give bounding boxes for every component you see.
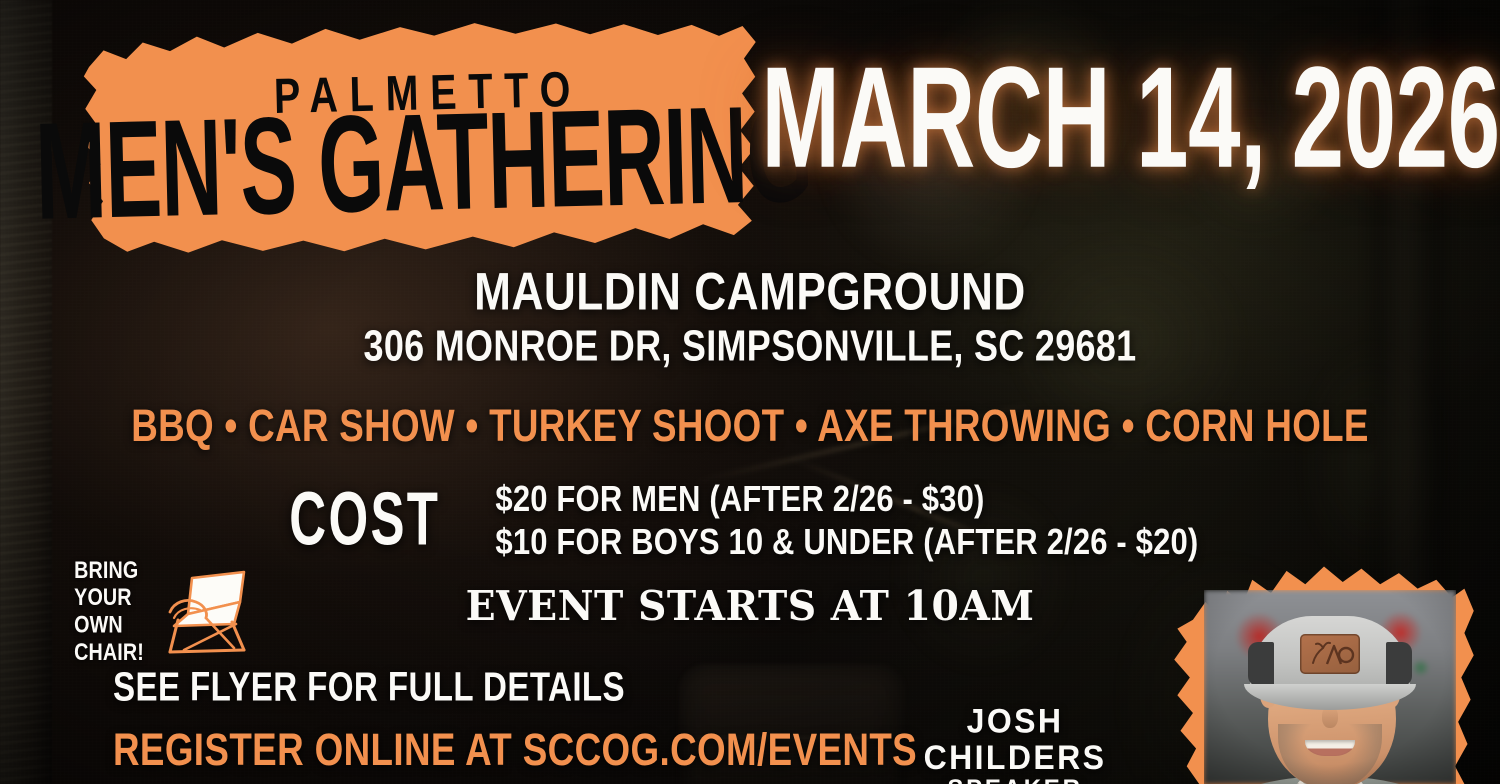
- byoc-line-1: BRING: [74, 557, 142, 584]
- cost-lines: $20 FOR MEN (AFTER 2/26 - $30) $10 FOR B…: [473, 478, 1221, 564]
- see-flyer-text: SEE FLYER FOR FULL DETAILS: [113, 665, 917, 709]
- logo-wordmark: PALMETTO MEN'S GATHERING: [81, 14, 764, 262]
- byoc-line-3: OWN: [74, 612, 142, 639]
- speaker-credit: JOSH CHILDERS SPEAKER: [880, 706, 1150, 784]
- venue-address: 306 MONROE DR, SIMPSONVILLE, SC 29681: [75, 323, 1425, 369]
- cost-line-men: $20 FOR MEN (AFTER 2/26 - $30): [495, 476, 1198, 523]
- bring-your-own-chair-badge: BRING YOUR OWN CHAIR!: [72, 552, 268, 672]
- cost-line-boys: $10 FOR BOYS 10 & UNDER (AFTER 2/26 - $2…: [495, 519, 1198, 566]
- event-flyer: PALMETTO MEN'S GATHERING MARCH 14, 2026 …: [0, 0, 1500, 784]
- byoc-text: BRING YOUR OWN CHAIR!: [74, 557, 142, 666]
- activities-list: BBQ • CAR SHOW • TURKEY SHOOT • AXE THRO…: [60, 401, 1440, 452]
- speaker-portrait: [1204, 590, 1456, 784]
- speaker-photo: [1168, 556, 1500, 784]
- speaker-role: SPEAKER: [880, 776, 1150, 784]
- portrait-edge-shading: [1204, 590, 1456, 784]
- venue-name: MAULDIN CAMPGROUND: [60, 265, 1440, 321]
- call-to-action-block: SEE FLYER FOR FULL DETAILS REGISTER ONLI…: [78, 668, 952, 771]
- palmetto-mens-gathering-logo: PALMETTO MEN'S GATHERING: [84, 22, 762, 254]
- event-date: MARCH 14, 2026: [815, 46, 1445, 191]
- venue-block: MAULDIN CAMPGROUND 306 MONROE DR, SIMPSO…: [0, 268, 1500, 367]
- logo-main-word: MEN'S GATHERING: [34, 96, 813, 233]
- folding-chair-icon: [148, 562, 256, 663]
- register-online-link[interactable]: REGISTER ONLINE AT SCCOG.COM/EVENTS: [113, 726, 917, 774]
- speaker-name: JOSH CHILDERS: [880, 703, 1150, 776]
- cost-label: COST: [290, 482, 441, 560]
- event-date-text: MARCH 14, 2026: [761, 54, 1499, 184]
- byoc-line-2: YOUR: [74, 585, 142, 612]
- cost-block: COST $20 FOR MEN (AFTER 2/26 - $30) $10 …: [0, 478, 1500, 564]
